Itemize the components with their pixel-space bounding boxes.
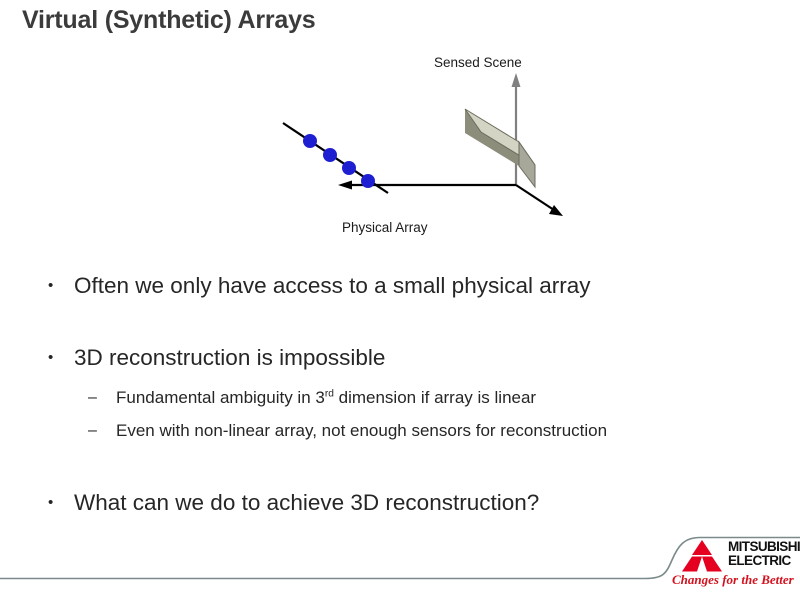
bullet-text: Fundamental ambiguity in 3rd dimension i… <box>116 387 536 409</box>
bullet-text: Often we only have access to a small phy… <box>74 272 590 300</box>
logo-tagline: Changes for the Better <box>672 572 794 588</box>
bullet-text-before: Fundamental ambiguity in 3 <box>116 388 325 407</box>
logo-wordmark: MITSUBISHI ELECTRIC <box>728 540 800 568</box>
sensor-element <box>323 148 337 162</box>
logo-wordmark-line1: MITSUBISHI <box>728 540 800 554</box>
bullet-text: What can we do to achieve 3D reconstruct… <box>74 489 539 517</box>
bullet-marker: – <box>88 420 116 442</box>
bullet-text: Even with non-linear array, not enough s… <box>116 420 607 442</box>
depth-axis-icon <box>516 185 563 216</box>
diagram-canvas <box>260 45 600 245</box>
sensor-element <box>303 134 317 148</box>
slide: Virtual (Synthetic) Arrays <box>0 0 800 599</box>
bullet-marker: • <box>46 489 74 517</box>
mitsubishi-electric-logo: MITSUBISHI ELECTRIC Changes for the Bett… <box>662 536 800 588</box>
page-title: Virtual (Synthetic) Arrays <box>22 6 316 35</box>
sub-bullet-item: – Fundamental ambiguity in 3rd dimension… <box>88 387 536 409</box>
bullet-marker: • <box>46 344 74 372</box>
sensor-element <box>342 161 356 175</box>
logo-wordmark-line2: ELECTRIC <box>728 554 800 568</box>
bullet-marker: – <box>88 387 116 409</box>
label-physical-array: Physical Array <box>342 220 428 235</box>
bullet-text: 3D reconstruction is impossible <box>74 344 385 372</box>
bullet-item: • Often we only have access to a small p… <box>46 272 590 300</box>
bullet-text-after: dimension if array is linear <box>334 388 536 407</box>
scene-plane-icon <box>465 109 535 187</box>
bullet-text-superscript: rd <box>325 388 334 399</box>
sub-bullet-item: – Even with non-linear array, not enough… <box>88 420 607 442</box>
bullet-item: • 3D reconstruction is impossible <box>46 344 385 372</box>
virtual-synthetic-array-diagram: Sensed Scene Physical Array <box>260 45 600 245</box>
bullet-item: • What can we do to achieve 3D reconstru… <box>46 489 539 517</box>
sensor-element <box>361 174 375 188</box>
bullet-marker: • <box>46 272 74 300</box>
label-sensed-scene: Sensed Scene <box>434 55 522 70</box>
